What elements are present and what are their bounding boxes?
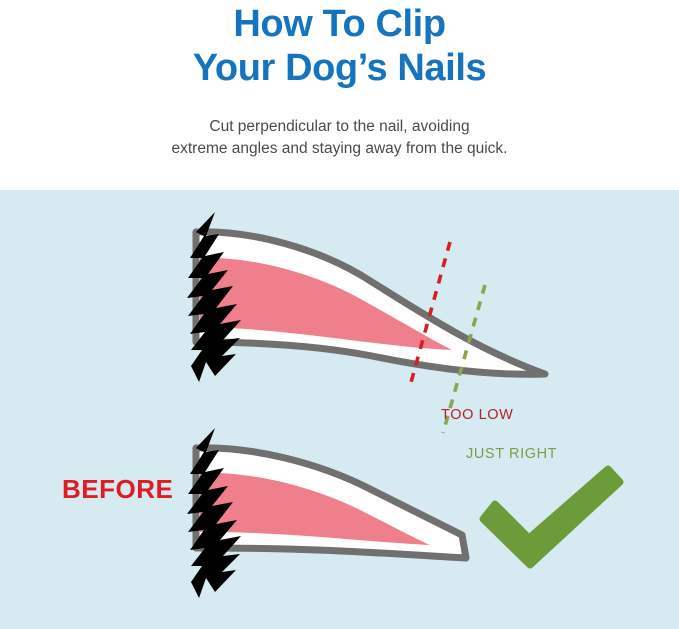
cut-label-too-low: TOO LOW [441,407,513,423]
after-nail-graphic [187,428,466,598]
subtitle-line-2: extreme angles and staying away from the… [0,138,679,160]
page-title: How To Clip Your Dog’s Nails [0,2,679,90]
title-line-1: How To Clip [0,2,679,46]
title-line-2: Your Dog’s Nails [0,46,679,90]
stage-label-before: BEFORE [62,474,173,505]
cut-label-just-right: JUST RIGHT [466,446,557,462]
page-subtitle: Cut perpendicular to the nail, avoiding … [0,116,679,160]
diagram-panel: BEFORE AFTER TOO LOW JUST RIGHT [0,190,679,629]
header-section: How To Clip Your Dog’s Nails Cut perpend… [0,0,679,190]
check-mark-icon [483,469,620,565]
infographic-page: How To Clip Your Dog’s Nails Cut perpend… [0,0,679,629]
before-nail-graphic [187,212,545,382]
subtitle-line-1: Cut perpendicular to the nail, avoiding [0,116,679,138]
nail-diagram-illustration [0,190,679,629]
